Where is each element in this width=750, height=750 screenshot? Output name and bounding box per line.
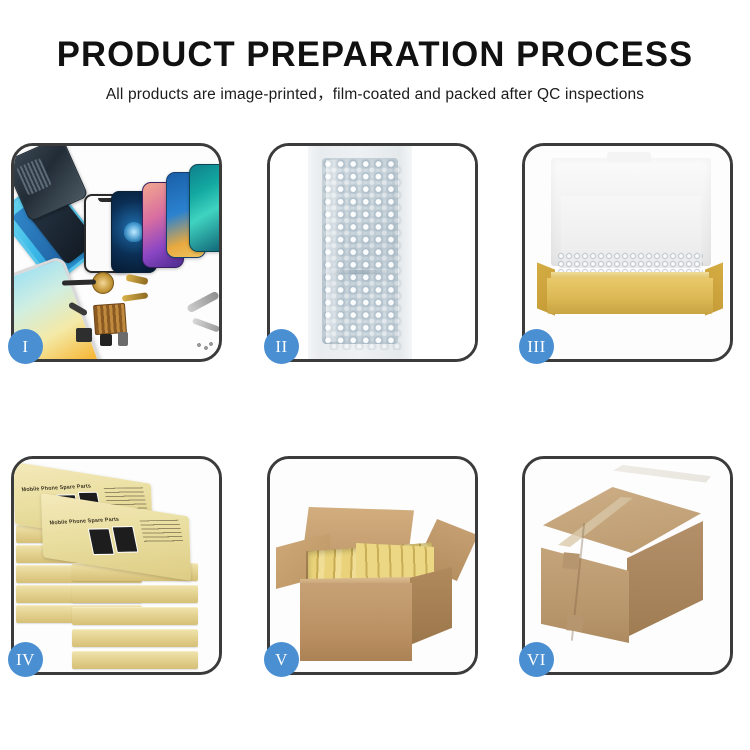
product-preparation-infographic: PRODUCT PREPARATION PROCESS All products… xyxy=(0,0,750,750)
step-6-image xyxy=(525,459,730,672)
carton-right-side xyxy=(410,567,452,645)
camera-module-icon xyxy=(76,328,92,342)
step-badge-label: III xyxy=(527,338,545,355)
process-step-3: III xyxy=(522,143,733,362)
tweezers-icon xyxy=(186,290,219,313)
step-badge-label: V xyxy=(275,651,288,668)
carton-front-face xyxy=(300,583,412,661)
box-print-phone-image xyxy=(112,526,139,553)
step-badge-3: III xyxy=(519,329,554,364)
kraft-box-layer xyxy=(72,607,198,625)
process-step-1: I xyxy=(11,143,222,362)
box-print-phone-image xyxy=(88,528,115,555)
page-title: PRODUCT PREPARATION PROCESS xyxy=(4,35,747,75)
phone-parts-scene xyxy=(14,146,219,359)
step-badge-label: VI xyxy=(527,651,546,668)
step-badge-label: I xyxy=(22,338,28,355)
process-step-grid: I II xyxy=(11,143,738,675)
step-5-image xyxy=(270,459,475,672)
box-lid-tab xyxy=(607,152,651,162)
screws-icon xyxy=(196,342,214,352)
header: PRODUCT PREPARATION PROCESS All products… xyxy=(0,0,750,105)
step-badge-label: II xyxy=(275,338,287,355)
step-3-image xyxy=(525,146,730,359)
box-print-spec-lines xyxy=(140,520,184,543)
step-badge-label: IV xyxy=(16,651,35,668)
step-2-image xyxy=(270,146,475,359)
spudger-tool-icon xyxy=(192,317,219,332)
phone-motherboard-icon xyxy=(14,146,89,222)
step-badge-5: V xyxy=(264,642,299,677)
kraft-box-layer xyxy=(72,651,198,669)
chip-array-icon xyxy=(93,303,127,335)
small-component-icon xyxy=(100,334,112,346)
process-step-4: Mobile Phone Spare Parts Mobile Phone Sp… xyxy=(11,456,222,675)
step-1-image xyxy=(14,146,219,359)
carton-front-face xyxy=(541,537,629,643)
process-step-2: II xyxy=(267,143,478,362)
carton-flap-tab xyxy=(562,552,580,570)
flex-cable-icon xyxy=(122,292,149,302)
step-badge-6: VI xyxy=(519,642,554,677)
step-badge-1: I xyxy=(8,329,43,364)
step-4-image: Mobile Phone Spare Parts Mobile Phone Sp… xyxy=(14,459,219,672)
kraft-tray-front xyxy=(547,278,713,314)
box-print-label: Mobile Phone Spare Parts xyxy=(49,517,120,527)
kraft-box-layer xyxy=(72,629,198,647)
earpiece-mesh-icon xyxy=(62,279,96,285)
process-step-5: V xyxy=(267,456,478,675)
flex-cable-icon xyxy=(126,274,149,285)
page-subtitle: All products are image-printed，film-coat… xyxy=(0,85,750,105)
kraft-box-layer xyxy=(72,585,198,603)
carton-flap-tab xyxy=(566,614,584,632)
step-badge-4: IV xyxy=(8,642,43,677)
process-step-6: VI xyxy=(522,456,733,675)
sim-tray-icon xyxy=(118,332,128,346)
step-badge-2: II xyxy=(264,329,299,364)
wrap-highlight xyxy=(326,160,342,342)
teal-gradient-phone-icon xyxy=(189,164,219,252)
